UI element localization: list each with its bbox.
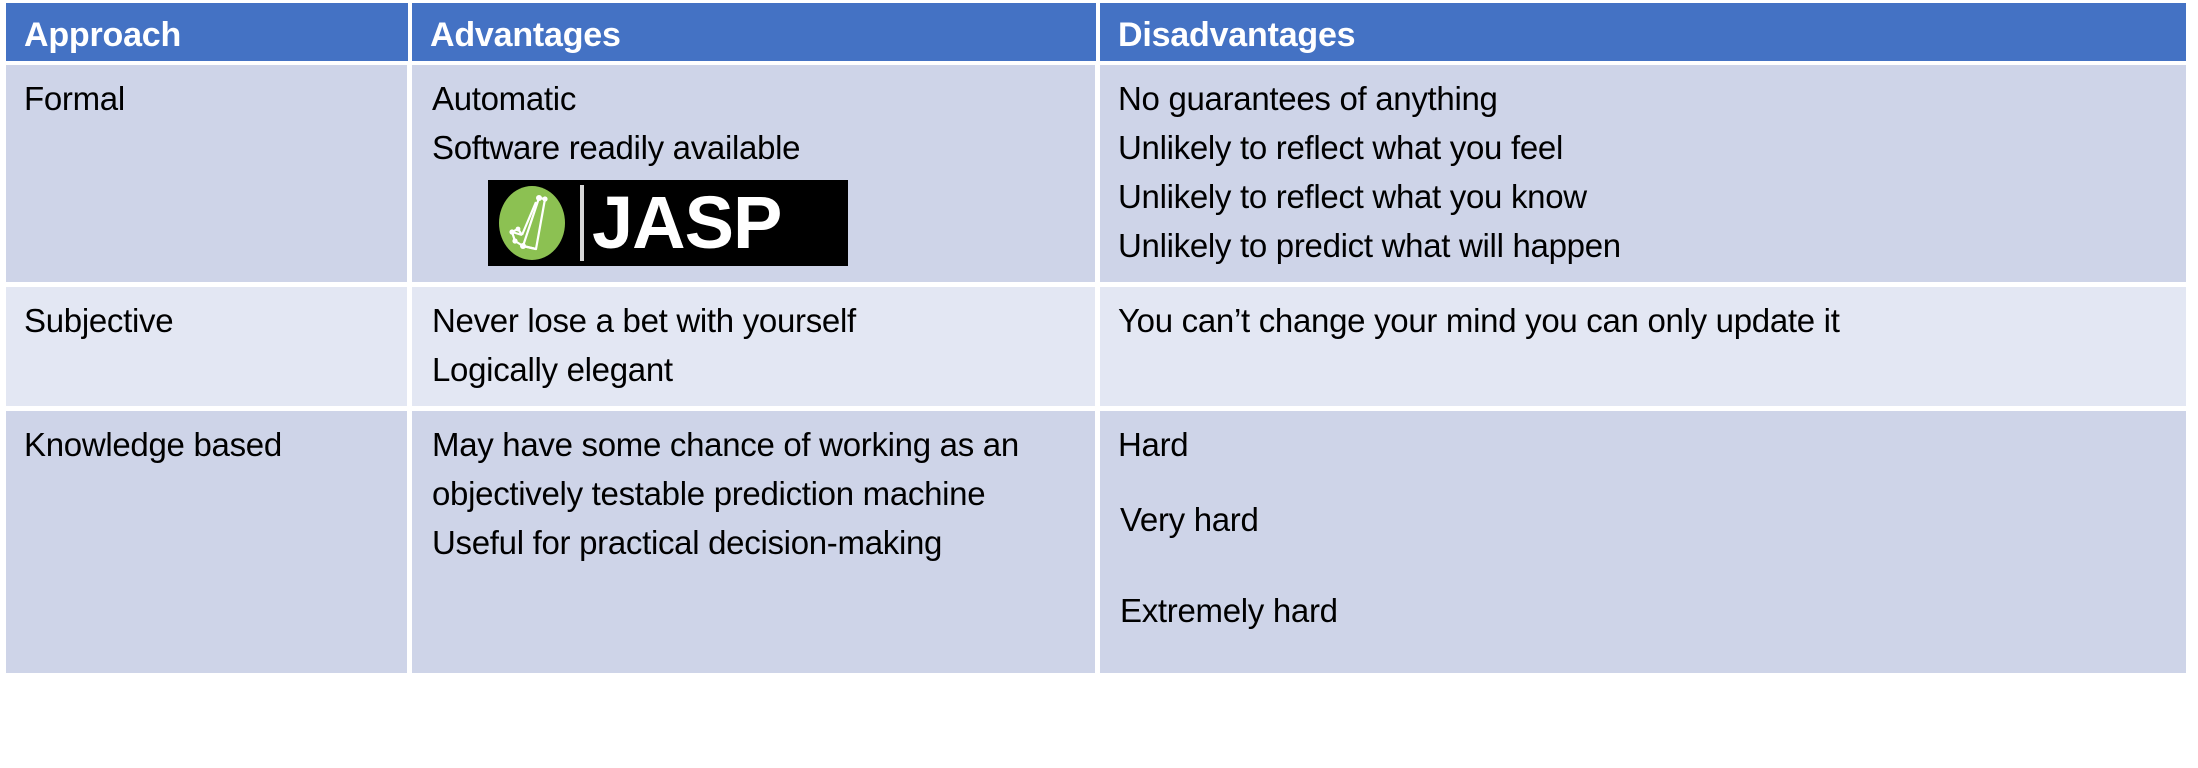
header-cell-approach: Approach bbox=[6, 3, 412, 65]
advantage-item: Software readily available bbox=[432, 123, 1072, 172]
advantages-list: Automatic Software readily available bbox=[430, 74, 1072, 172]
disadvantage-item: Unlikely to reflect what you feel bbox=[1118, 123, 2186, 172]
disadvantage-item: You can’t change your mind you can only … bbox=[1118, 296, 2186, 345]
disadvantage-item: Extremely hard bbox=[1118, 586, 2186, 635]
cell-approach-knowledge: Knowledge based bbox=[6, 411, 412, 673]
table-row: Subjective Never lose a bet with yoursel… bbox=[6, 287, 2186, 411]
table-row: Formal Automatic Software readily availa… bbox=[6, 65, 2186, 287]
disadvantages-list: Hard Very hard Extremely hard bbox=[1118, 420, 2186, 635]
header-label-advantages: Advantages bbox=[430, 16, 621, 54]
cell-advantages-knowledge: May have some chance of working as an ob… bbox=[412, 411, 1100, 673]
advantages-list: May have some chance of working as an ob… bbox=[430, 420, 1052, 567]
advantage-item: Automatic bbox=[432, 74, 1072, 123]
advantage-item: Useful for practical decision-making bbox=[432, 518, 1052, 567]
header-label-approach: Approach bbox=[24, 16, 181, 54]
advantage-item: Never lose a bet with yourself bbox=[432, 296, 1095, 345]
table-row: Knowledge based May have some chance of … bbox=[6, 411, 2186, 673]
disadvantage-item: Hard bbox=[1118, 420, 2186, 469]
cell-approach-subjective: Subjective bbox=[6, 287, 412, 411]
approach-text: Subjective bbox=[24, 296, 407, 345]
cell-disadvantages-formal: No guarantees of anything Unlikely to re… bbox=[1100, 65, 2186, 287]
approach-label: Formal bbox=[24, 74, 407, 123]
advantages-list: Never lose a bet with yourself Logically… bbox=[430, 296, 1095, 394]
cell-disadvantages-knowledge: Hard Very hard Extremely hard bbox=[1100, 411, 2186, 673]
cell-advantages-formal: Automatic Software readily available bbox=[412, 65, 1100, 287]
jasp-logo: JASP bbox=[488, 180, 848, 266]
cell-advantages-subjective: Never lose a bet with yourself Logically… bbox=[412, 287, 1100, 411]
approach-text: Formal bbox=[24, 74, 407, 123]
disadvantage-item: Unlikely to predict what will happen bbox=[1118, 221, 2186, 270]
advantage-item: Logically elegant bbox=[432, 345, 1095, 394]
advantage-item: May have some chance of working as an ob… bbox=[432, 420, 1052, 518]
header-cell-advantages: Advantages bbox=[412, 3, 1100, 65]
cell-disadvantages-subjective: You can’t change your mind you can only … bbox=[1100, 287, 2186, 411]
cell-approach-formal: Formal bbox=[6, 65, 412, 287]
jasp-mark-icon bbox=[492, 183, 572, 263]
jasp-wordmark: JASP bbox=[592, 185, 781, 261]
table-body: Approach Advantages Disadvantages Formal… bbox=[6, 3, 2186, 673]
approach-text: Knowledge based bbox=[24, 420, 407, 469]
approach-label: Subjective bbox=[24, 296, 407, 345]
header-label-disadvantages: Disadvantages bbox=[1118, 16, 1355, 54]
comparison-table: Approach Advantages Disadvantages Formal… bbox=[6, 3, 2186, 768]
jasp-divider bbox=[580, 185, 584, 261]
disadvantages-list: No guarantees of anything Unlikely to re… bbox=[1118, 74, 2186, 270]
disadvantages-list: You can’t change your mind you can only … bbox=[1118, 296, 2186, 345]
disadvantage-item: No guarantees of anything bbox=[1118, 74, 2186, 123]
disadvantage-item: Very hard bbox=[1118, 495, 2186, 544]
table-header-row: Approach Advantages Disadvantages bbox=[6, 3, 2186, 65]
approach-label: Knowledge based bbox=[24, 420, 407, 469]
header-cell-disadvantages: Disadvantages bbox=[1100, 3, 2186, 65]
disadvantage-item: Unlikely to reflect what you know bbox=[1118, 172, 2186, 221]
